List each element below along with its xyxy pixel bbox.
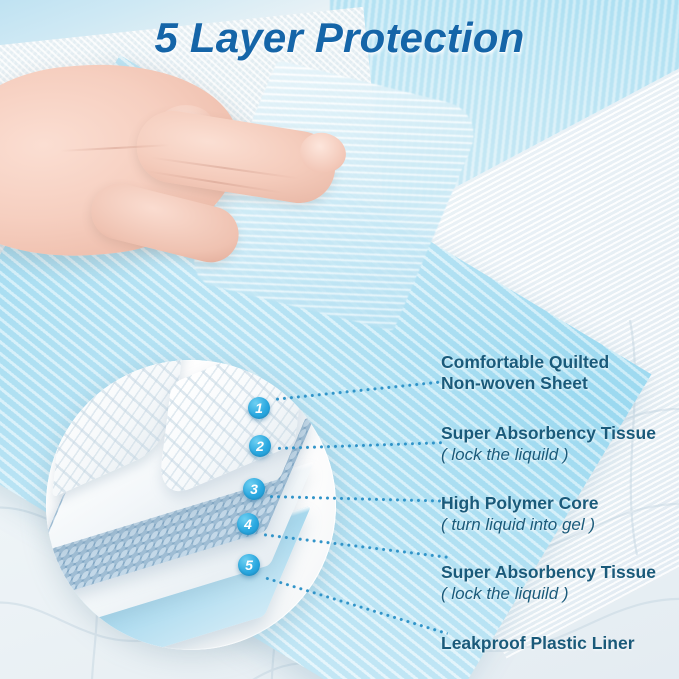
layer-1-name-line2: Non-woven Sheet	[441, 373, 609, 394]
layer-5-name: Leakproof Plastic Liner	[441, 633, 635, 654]
badge-3[interactable]: 3	[243, 478, 265, 500]
badge-5[interactable]: 5	[238, 554, 260, 576]
layer-label-1: Comfortable Quilted Non-woven Sheet	[441, 352, 609, 394]
layer-1-name: Comfortable Quilted	[441, 352, 609, 373]
layer-label-3: High Polymer Core ( turn liquid into gel…	[441, 493, 599, 535]
product-infographic: 1 2 3 4 5 5 Layer Protection Comfortable…	[0, 0, 679, 679]
layer-3-name: High Polymer Core	[441, 493, 599, 514]
layer-4-note: ( lock the liquild )	[441, 583, 656, 604]
layer-2-name: Super Absorbency Tissue	[441, 423, 656, 444]
page-title: 5 Layer Protection	[0, 14, 679, 62]
layer-label-2: Super Absorbency Tissue ( lock the liqui…	[441, 423, 656, 465]
layer-label-5: Leakproof Plastic Liner	[441, 633, 635, 654]
hand	[0, 35, 360, 305]
bracelet-icon	[0, 95, 24, 255]
badge-2[interactable]: 2	[249, 435, 271, 457]
layer-cutaway-inset	[46, 360, 336, 650]
layer-3-note: ( turn liquid into gel )	[441, 514, 599, 535]
layer-4-name: Super Absorbency Tissue	[441, 562, 656, 583]
badge-1[interactable]: 1	[248, 397, 270, 419]
layer-label-4: Super Absorbency Tissue ( lock the liqui…	[441, 562, 656, 604]
badge-4[interactable]: 4	[237, 513, 259, 535]
layer-2-note: ( lock the liquild )	[441, 444, 656, 465]
